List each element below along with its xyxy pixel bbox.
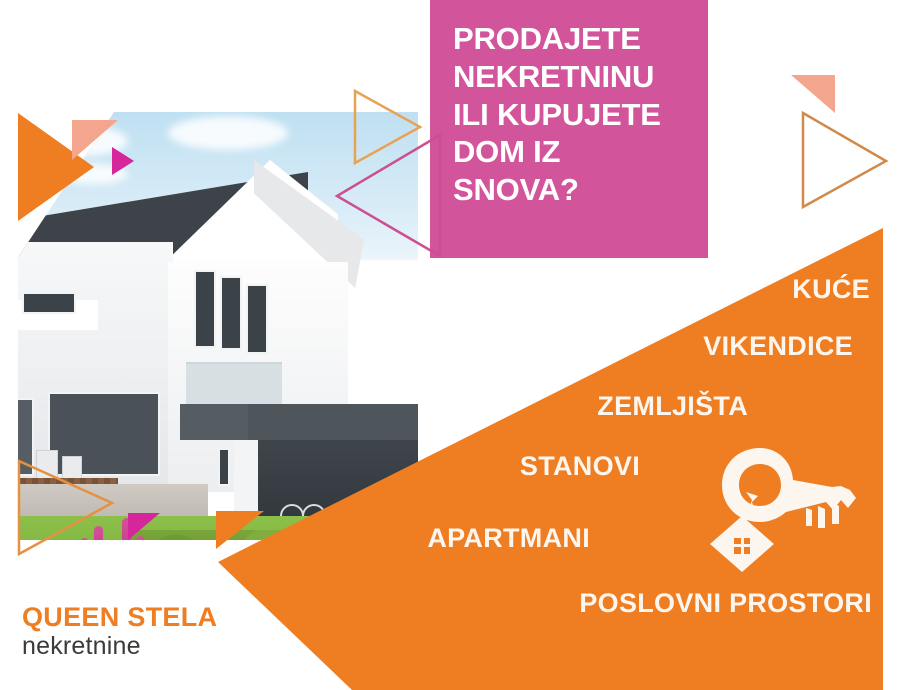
headline-line-3: ILI KUPUJETE — [453, 96, 708, 134]
real-estate-poster: PRODAJETE NEKRETNINU ILI KUPUJETE DOM IZ… — [0, 0, 920, 690]
decor-triangle-orange-outline-bottom — [16, 458, 116, 558]
brand-name: QUEEN STELA — [22, 604, 217, 631]
balcony-railing — [186, 362, 282, 408]
window — [246, 284, 268, 354]
headline-line-1: PRODAJETE — [453, 20, 708, 58]
carport-roof — [248, 404, 418, 442]
headline-banner: PRODAJETE NEKRETNINU ILI KUPUJETE DOM IZ… — [430, 0, 708, 258]
headline-line-2: NEKRETNINU — [453, 58, 708, 96]
window — [220, 276, 242, 350]
category-apartmani: APARTMANI — [427, 523, 590, 554]
category-stanovi: STANOVI — [520, 451, 640, 482]
category-zemljista: ZEMLJIŠTA — [597, 391, 748, 422]
window — [22, 292, 76, 314]
category-poslovni-prostori: POSLOVNI PROSTORI — [579, 588, 872, 619]
headline-line-5: SNOVA? — [453, 171, 708, 209]
category-vikendice: VIKENDICE — [703, 331, 853, 362]
decor-triangle-orange-photo-corner — [216, 511, 264, 549]
decor-triangle-pink-outline — [334, 132, 444, 260]
decor-triangle-salmon-left — [791, 75, 835, 113]
decor-triangle-orange-outline-right — [800, 110, 890, 210]
decor-triangle-magenta-bottom — [128, 513, 160, 540]
decor-triangle-magenta-filled — [112, 147, 134, 175]
brand-tagline: nekretnine — [22, 631, 217, 662]
brand-logo: QUEEN STELA nekretnine — [22, 604, 217, 662]
headline-line-4: DOM IZ — [453, 133, 708, 171]
category-kuce: KUĆE — [792, 274, 870, 305]
key-with-house-keychain-icon — [700, 440, 860, 575]
window — [218, 448, 230, 486]
window — [194, 270, 216, 348]
